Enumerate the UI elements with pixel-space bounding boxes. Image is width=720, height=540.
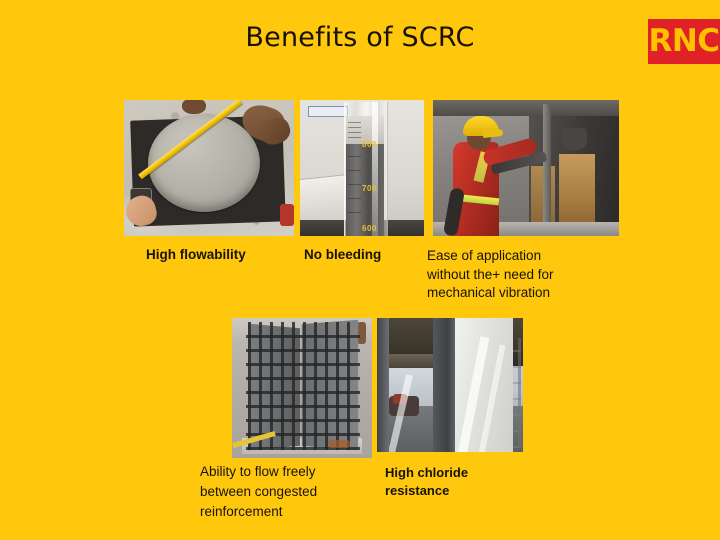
- photo-finished-concrete-column: [377, 318, 523, 452]
- bleed-graduation: [348, 212, 361, 213]
- bleed-graduation: [348, 132, 361, 133]
- photo-congested-rebar-cage: [232, 318, 372, 458]
- worker-bucket: [561, 128, 587, 150]
- worker-steel-post: [543, 104, 551, 236]
- slide: Benefits of SCRC RNC: [0, 0, 720, 540]
- bleed-graduation: [348, 137, 361, 138]
- rnc-logo-text: RNC: [648, 26, 719, 57]
- caption-ease-of-application: Ease of application without the+ need fo…: [427, 247, 553, 303]
- bleed-mark-600: 600: [362, 224, 377, 233]
- rnc-logo: RNC: [648, 19, 720, 64]
- rebar-rust-stain: [328, 440, 350, 448]
- column-shadowed-face: [433, 318, 457, 452]
- bleed-mark-800: 800: [362, 140, 377, 149]
- bleed-graduation: [348, 170, 361, 171]
- bleed-wall-label: [308, 106, 348, 117]
- bleed-graduation: [348, 198, 361, 199]
- photo-bleeding-cylinder: 800 700 600: [300, 100, 424, 236]
- bleed-graduation: [348, 184, 361, 185]
- caption-high-flowability: High flowability: [146, 246, 246, 264]
- bleed-graduation: [348, 127, 361, 128]
- column-left-edge-wall: [377, 318, 389, 452]
- caption-no-bleeding: No bleeding: [304, 246, 381, 264]
- caption-high-chloride-resistance: High chloride resistance: [385, 464, 468, 500]
- slump-hand-top: [182, 100, 206, 114]
- caption-flow-between-reinforcement: Ability to flow freely between congested…: [200, 462, 317, 522]
- slump-red-object: [280, 204, 294, 226]
- worker-ceiling-beam: [433, 100, 619, 116]
- bleed-cylinder-highlight: [372, 102, 378, 236]
- photo-worker-placing-concrete: [433, 100, 619, 236]
- page-title: Benefits of SCRC: [0, 22, 720, 53]
- bleed-graduation: [348, 156, 361, 157]
- bleed-graduation: [348, 122, 361, 123]
- rebar-horizontal-ties: [246, 324, 360, 450]
- worker-formwork-panel: [559, 154, 595, 230]
- photo-slump-flow-test: [124, 100, 294, 236]
- bleed-mark-700: 700: [362, 184, 377, 193]
